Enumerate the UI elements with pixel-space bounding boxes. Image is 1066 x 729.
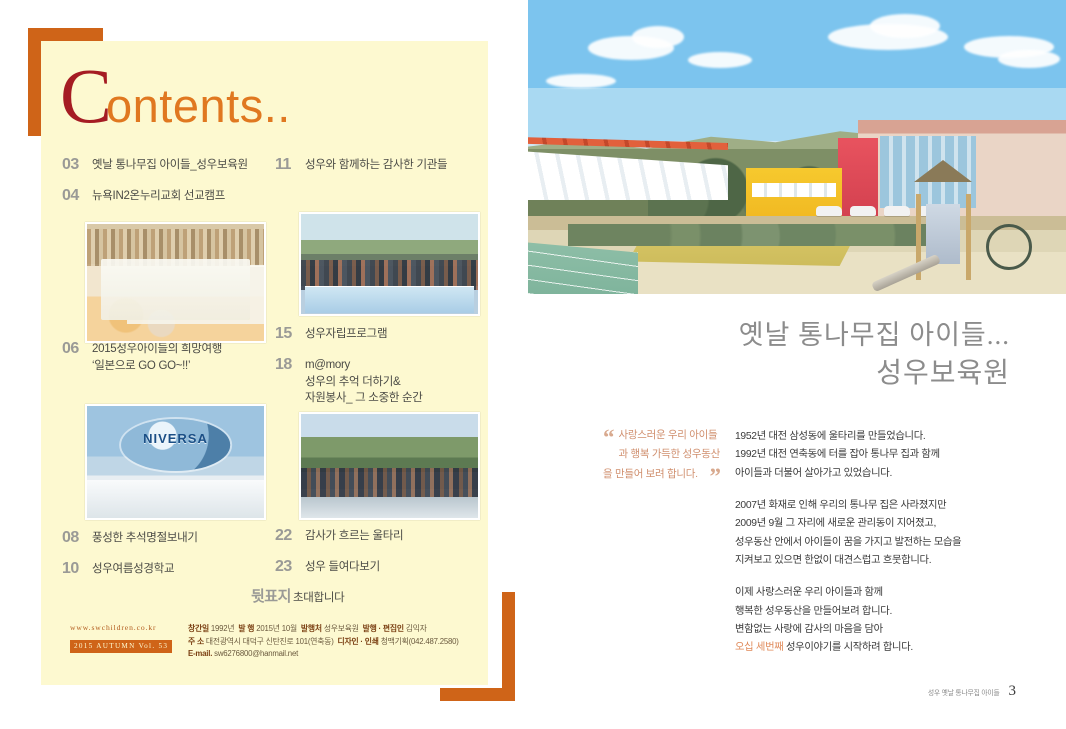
- body-line: 아이들과 더불어 살아가고 있었습니다.: [735, 465, 1040, 483]
- playground-structure: [908, 160, 1028, 280]
- label-issue-date: 발 행: [238, 624, 254, 633]
- toc-entry-15[interactable]: 15 성우자립프로그램: [275, 324, 470, 344]
- body-paragraph-1: 1952년 대전 삼성동에 울타리를 만들었습니다. 1992년 대전 연축동에…: [735, 428, 1040, 483]
- toc-title: 풍성한 추석명절보내기: [92, 528, 198, 547]
- photo-universal-globe: NIVERSA: [87, 406, 264, 518]
- contents-heading-rest: ontents..: [106, 82, 291, 129]
- thumbnail-group-photo-with-banner: 제12회 사랑의 징검다리: [299, 212, 480, 316]
- publication-line-3: E-mail. sw6276800@hanmail.net: [188, 648, 470, 661]
- label-editor: 발행 · 편집인: [363, 624, 404, 633]
- body-line: 지켜보고 있으면 한없이 대견스럽고 흐뭇합니다.: [735, 552, 1040, 570]
- value-issue-date: 2015년 10월: [256, 624, 297, 633]
- toc-entry-22[interactable]: 22 감사가 흐르는 울타리: [275, 526, 470, 546]
- toc-title: 성우와 함께하는 감사한 기관들: [305, 155, 447, 174]
- publication-details-block: 창간일 1992년 발 행 2015년 10월 발행처 성우보육원 발행 · 편…: [182, 623, 470, 661]
- publication-line-2: 주 소 대전광역시 대덕구 신탄진로 101(연축동) 디자인 · 인쇄 청맥기…: [188, 636, 470, 649]
- value-design-print: 청맥기획(042.487.2580): [381, 637, 459, 646]
- playground-roof: [914, 160, 972, 182]
- toc-entry-backcover[interactable]: 뒷표지 초대합니다: [251, 588, 470, 607]
- quote-open-mark: “: [603, 431, 615, 445]
- toc-title: 2015성우아이들의 희망여행 ‘일본으로 GO GO~!!’: [92, 339, 222, 374]
- pull-quote-text: 사랑스러운 우리 아이들과 행복 가득한 성우동산을 만들어 보려 합니다.: [603, 429, 720, 480]
- toc-page-number: 10: [62, 559, 92, 579]
- body-line: 2009년 9월 그 자리에 새로운 관리동이 지어졌고,: [735, 515, 1040, 533]
- body-line: 성우동산 안에서 아이들이 꿈을 가지고 발전하는 모습을: [735, 534, 1040, 552]
- label-founding-date: 창간일: [188, 624, 209, 633]
- toc-title: 성우여름성경학교: [92, 559, 174, 578]
- body-line: 변함없는 사랑에 감사의 마음을 담아: [735, 621, 1040, 639]
- parked-car: [816, 206, 842, 216]
- photo-kids-library: [87, 224, 264, 341]
- toc-title-sub2: 자원봉사_ 그 소중한 순간: [305, 390, 423, 407]
- toc-title: 뉴욕IN2온누리교회 선교캠프: [92, 186, 225, 205]
- body-line: 1992년 대전 연축동에 터를 잡아 통나무 집과 함께: [735, 446, 1040, 464]
- photo-group-banner: 제12회 사랑의 징검다리: [301, 214, 478, 314]
- toc-title: 성우자립프로그램: [305, 324, 387, 343]
- quote-close-mark: ”: [710, 470, 722, 484]
- value-founding-date: 1992년: [211, 624, 235, 633]
- highlighted-phrase: 오십 세번째: [735, 642, 783, 653]
- article-title-block: 옛날 통나무집 아이들... 성우보육원: [528, 316, 1038, 394]
- publication-info-footer: www.swchildren.co.kr 2015 AUTUMN Vol. 53…: [70, 623, 470, 661]
- thumbnail-kids-group-outdoors: [299, 412, 480, 520]
- playground-wheel: [986, 224, 1032, 270]
- toc-title: 옛날 통나무집 아이들_성우보육원: [92, 155, 248, 174]
- body-line-rest: 성우이야기를 시작하려 합니다.: [783, 642, 913, 653]
- photo-kids-outdoors: [301, 414, 478, 518]
- parked-car: [884, 206, 910, 216]
- body-paragraph-2: 2007년 화재로 인해 우리의 통나무 집은 사라졌지만 2009년 9월 그…: [735, 497, 1040, 570]
- label-address: 주 소: [188, 637, 204, 646]
- toc-entry-10[interactable]: 10 성우여름성경학교: [62, 559, 257, 579]
- body-line-with-highlight: 오십 세번째 성우이야기를 시작하려 합니다.: [735, 639, 1040, 657]
- article-body: 1952년 대전 삼성동에 울타리를 만들었습니다. 1992년 대전 연축동에…: [735, 428, 1040, 658]
- toc-entry-23[interactable]: 23 성우 들여다보기: [275, 557, 470, 577]
- label-email: E-mail.: [188, 649, 212, 658]
- cloud-shape: [632, 26, 684, 48]
- toc-title: m@mory 성우의 추억 더하기& 자원봉사_ 그 소중한 순간: [305, 355, 423, 407]
- toc-page-number: 22: [275, 526, 305, 546]
- footer-caption: 성우 옛날 통나무집 아이들: [928, 687, 1000, 697]
- issue-volume-badge: 2015 AUTUMN Vol. 53: [70, 640, 172, 653]
- page-number: 3: [1009, 683, 1017, 700]
- thumbnail-universal-studios-globe: NIVERSA: [85, 404, 266, 520]
- toc-column-left: 03 옛날 통나무집 아이들_성우보육원 04 뉴욕IN2온누리교회 선교캠프 …: [62, 155, 257, 590]
- cloud-shape: [870, 14, 940, 38]
- label-publisher-org: 발행처: [301, 624, 322, 633]
- toc-page-number: 18: [275, 355, 305, 375]
- page-title-line-2: 성우보육원: [528, 354, 1010, 394]
- hero-photo-seongwoo-campus: [528, 0, 1066, 294]
- page-footer: 성우 옛날 통나무집 아이들 3: [528, 683, 1038, 700]
- banner-caption: 제12회 사랑의 징검다리: [312, 290, 468, 308]
- body-line: 이제 사랑스러운 우리 아이들과 함께: [735, 584, 1040, 602]
- toc-title-main: 2015성우아이들의 희망여행: [92, 343, 222, 355]
- cloud-shape: [546, 74, 616, 88]
- toc-page-number: 23: [275, 557, 305, 577]
- toc-title-sub: 성우의 추억 더하기&: [305, 374, 423, 391]
- body-paragraph-3: 이제 사랑스러운 우리 아이들과 함께 행복한 성우동산을 만들어보려 합니다.…: [735, 584, 1040, 657]
- label-design-print: 디자인 · 인쇄: [338, 637, 379, 646]
- cloud-shape: [998, 50, 1060, 68]
- cloud-shape: [688, 52, 752, 68]
- value-editor: 김익자: [406, 624, 427, 633]
- playground-post: [966, 194, 971, 280]
- toc-entry-11[interactable]: 11 성우와 함께하는 감사한 기관들: [275, 155, 470, 175]
- body-line: 행복한 성우동산을 만들어보려 합니다.: [735, 603, 1040, 621]
- value-publisher-org: 성우보육원: [324, 624, 359, 633]
- body-line: 1952년 대전 삼성동에 울타리를 만들었습니다.: [735, 428, 1040, 446]
- toc-entry-06[interactable]: 06 2015성우아이들의 희망여행 ‘일본으로 GO GO~!!’: [62, 339, 257, 374]
- toc-page-number: 11: [275, 155, 305, 175]
- contents-heading: C ontents..: [60, 63, 291, 123]
- pull-quote: “ 사랑스러운 우리 아이들과 행복 가득한 성우동산을 만들어 보려 합니다.…: [603, 425, 721, 484]
- parked-car: [850, 206, 876, 216]
- body-line: 2007년 화재로 인해 우리의 통나무 집은 사라졌지만: [735, 497, 1040, 515]
- toc-page-number: 08: [62, 528, 92, 548]
- publication-brand-block: www.swchildren.co.kr 2015 AUTUMN Vol. 53: [70, 623, 182, 653]
- toc-title: 초대합니다: [293, 588, 344, 607]
- toc-entry-08[interactable]: 08 풍성한 추석명절보내기: [62, 528, 257, 548]
- publication-line-1: 창간일 1992년 발 행 2015년 10월 발행처 성우보육원 발행 · 편…: [188, 623, 470, 636]
- toc-page-number: 03: [62, 155, 92, 175]
- value-address: 대전광역시 대덕구 신탄진로 101(연축동): [206, 637, 334, 646]
- toc-entry-18[interactable]: 18 m@mory 성우의 추억 더하기& 자원봉사_ 그 소중한 순간: [275, 355, 470, 407]
- value-email[interactable]: sw6276800@hanmail.net: [214, 649, 298, 658]
- toc-page-number: 15: [275, 324, 305, 344]
- universal-sign-caption: NIVERSA: [98, 431, 254, 446]
- toc-page-number: 04: [62, 186, 92, 206]
- toc-entry-04[interactable]: 04 뉴욕IN2온누리교회 선교캠프: [62, 186, 257, 206]
- thumbnail-kids-holding-drawings-in-library: [85, 222, 266, 343]
- toc-page-number: 뒷표지: [251, 588, 293, 607]
- toc-title-main: m@mory: [305, 359, 350, 371]
- toc-title-sub: ‘일본으로 GO GO~!!’: [92, 358, 222, 375]
- shrub-row: [568, 224, 948, 246]
- right-page-article: 옛날 통나무집 아이들... 성우보육원 “ 사랑스러운 우리 아이들과 행복 …: [528, 0, 1066, 729]
- contents-heading-initial: C: [60, 63, 110, 129]
- page-title-line-1: 옛날 통나무집 아이들...: [528, 316, 1010, 354]
- toc-title: 감사가 흐르는 울타리: [305, 526, 403, 545]
- toc-entry-03[interactable]: 03 옛날 통나무집 아이들_성우보육원: [62, 155, 257, 175]
- toc-title: 성우 들여다보기: [305, 557, 380, 576]
- website-url[interactable]: www.swchildren.co.kr: [70, 623, 182, 632]
- left-page-contents: C ontents.. 03 옛날 통나무집 아이들_성우보육원 04 뉴욕IN…: [0, 0, 528, 729]
